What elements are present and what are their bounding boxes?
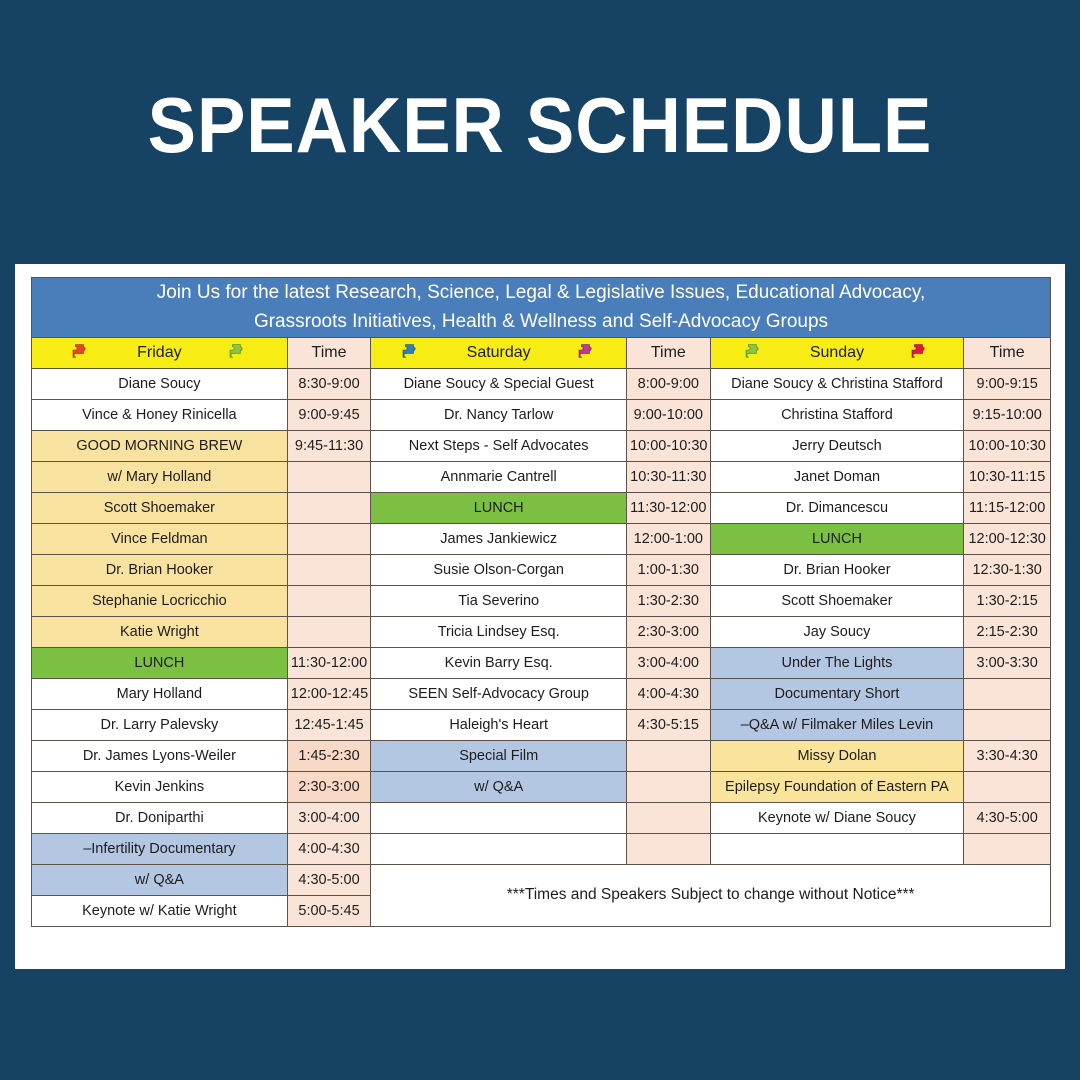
cell-time-saturday: 11:30-12:00 [627, 492, 711, 523]
table-header-row: Friday Time [32, 337, 1051, 368]
cell-time-friday: 12:00-12:45 [287, 678, 371, 709]
cell-time-sunday [964, 833, 1051, 864]
cell-sunday: Dr. Dimancescu [710, 492, 964, 523]
cell-time-saturday: 3:00-4:00 [627, 647, 711, 678]
column-header-saturday: Saturday [371, 337, 627, 368]
table-row: Vince FeldmanJames Jankiewicz12:00-1:00L… [32, 523, 1051, 554]
column-header-time-friday: Time [287, 337, 371, 368]
schedule-card-inner: Join Us for the latest Research, Science… [31, 277, 1051, 956]
table-row: LUNCH11:30-12:00Kevin Barry Esq.3:00-4:0… [32, 647, 1051, 678]
cell-sunday: Missy Dolan [710, 740, 964, 771]
cell-time-sunday: 12:30-1:30 [964, 554, 1051, 585]
cell-friday: Kevin Jenkins [32, 771, 288, 802]
cell-time-friday: 12:45-1:45 [287, 709, 371, 740]
cell-friday: Diane Soucy [32, 368, 288, 399]
cell-sunday: Scott Shoemaker [710, 585, 964, 616]
cell-time-saturday [627, 740, 711, 771]
cell-time-sunday: 9:00-9:15 [964, 368, 1051, 399]
cell-sunday: Documentary Short [710, 678, 964, 709]
table-row: Diane Soucy8:30-9:00Diane Soucy & Specia… [32, 368, 1051, 399]
cell-saturday: Tia Severino [371, 585, 627, 616]
cell-time-sunday: 12:00-12:30 [964, 523, 1051, 554]
cell-time-friday: 11:30-12:00 [287, 647, 371, 678]
column-header-friday-label: Friday [137, 344, 181, 362]
cell-friday: Dr. Doniparthi [32, 802, 288, 833]
cell-sunday: Janet Doman [710, 461, 964, 492]
cell-saturday: Annmarie Cantrell [371, 461, 627, 492]
cell-sunday: Epilepsy Foundation of Eastern PA [710, 771, 964, 802]
intro-banner: Join Us for the latest Research, Science… [32, 278, 1051, 338]
cell-time-sunday [964, 771, 1051, 802]
page-title: SPEAKER SCHEDULE [38, 86, 1042, 164]
intro-banner-row: Join Us for the latest Research, Science… [32, 278, 1051, 338]
cell-time-sunday: 10:00-10:30 [964, 430, 1051, 461]
schedule-card: Join Us for the latest Research, Science… [15, 264, 1065, 969]
cell-time-friday: 4:00-4:30 [287, 833, 371, 864]
cell-friday-qa: w/ Q&A [32, 864, 288, 895]
column-header-sunday-label: Sunday [810, 344, 864, 362]
cell-time-sunday: 4:30-5:00 [964, 802, 1051, 833]
table-row: Scott ShoemakerLUNCH11:30-12:00Dr. Diman… [32, 492, 1051, 523]
cell-sunday: Jay Soucy [710, 616, 964, 647]
cell-saturday: SEEN Self-Advocacy Group [371, 678, 627, 709]
cell-time-sunday: 1:30-2:15 [964, 585, 1051, 616]
cell-sunday: –Q&A w/ Filmaker Miles Levin [710, 709, 964, 740]
cell-time-friday-keynote: 5:00-5:45 [287, 895, 371, 926]
cell-time-saturday: 8:00-9:00 [627, 368, 711, 399]
table-row: Dr. Larry Palevsky12:45-1:45Haleigh's He… [32, 709, 1051, 740]
footer-note: ***Times and Speakers Subject to change … [371, 864, 1051, 926]
cell-time-sunday [964, 678, 1051, 709]
cell-time-friday [287, 492, 371, 523]
cell-time-saturday: 2:30-3:00 [627, 616, 711, 647]
table-row: Dr. Doniparthi3:00-4:00Keynote w/ Diane … [32, 802, 1051, 833]
cell-time-sunday: 3:00-3:30 [964, 647, 1051, 678]
cell-time-sunday: 9:15-10:00 [964, 399, 1051, 430]
cell-friday: LUNCH [32, 647, 288, 678]
poster-root: SPEAKER SCHEDULE [0, 0, 1080, 1080]
column-header-saturday-label: Saturday [467, 344, 531, 362]
table-row: Mary Holland12:00-12:45SEEN Self-Advocac… [32, 678, 1051, 709]
cell-time-friday [287, 554, 371, 585]
cell-friday: –Infertility Documentary [32, 833, 288, 864]
cell-friday: Mary Holland [32, 678, 288, 709]
cell-saturday: Kevin Barry Esq. [371, 647, 627, 678]
table-row: Stephanie LocricchioTia Severino1:30-2:3… [32, 585, 1051, 616]
cell-saturday: James Jankiewicz [371, 523, 627, 554]
cell-friday: Dr. James Lyons-Weiler [32, 740, 288, 771]
cell-friday: GOOD MORNING BREW [32, 430, 288, 461]
cell-saturday [371, 802, 627, 833]
table-row: Dr. Brian HookerSusie Olson-Corgan1:00-1… [32, 554, 1051, 585]
cell-sunday: Christina Stafford [710, 399, 964, 430]
cell-friday: Vince & Honey Rinicella [32, 399, 288, 430]
cell-time-saturday: 4:00-4:30 [627, 678, 711, 709]
cell-saturday [371, 833, 627, 864]
cell-sunday: Keynote w/ Diane Soucy [710, 802, 964, 833]
cell-saturday: Susie Olson-Corgan [371, 554, 627, 585]
cell-time-saturday: 12:00-1:00 [627, 523, 711, 554]
cell-friday-keynote: Keynote w/ Katie Wright [32, 895, 288, 926]
cell-time-saturday: 1:00-1:30 [627, 554, 711, 585]
cell-saturday: Next Steps - Self Advocates [371, 430, 627, 461]
cell-sunday [710, 833, 964, 864]
cell-time-sunday: 3:30-4:30 [964, 740, 1051, 771]
cell-time-friday [287, 523, 371, 554]
cell-sunday: Diane Soucy & Christina Stafford [710, 368, 964, 399]
cell-time-friday: 9:45-11:30 [287, 430, 371, 461]
cell-sunday: Dr. Brian Hooker [710, 554, 964, 585]
intro-banner-line1: Join Us for the latest Research, Science… [35, 278, 1047, 307]
puzzle-piece-icon-green-sunday [744, 343, 764, 362]
cell-sunday: Under The Lights [710, 647, 964, 678]
puzzle-piece-icon-red [71, 343, 91, 362]
cell-time-sunday [964, 709, 1051, 740]
cell-friday: Dr. Brian Hooker [32, 554, 288, 585]
table-row: w/ Q&A 4:30-5:00 ***Times and Speakers S… [32, 864, 1051, 895]
cell-time-saturday: 1:30-2:30 [627, 585, 711, 616]
cell-friday: Dr. Larry Palevsky [32, 709, 288, 740]
cell-time-saturday: 4:30-5:15 [627, 709, 711, 740]
table-row: Kevin Jenkins2:30-3:00w/ Q&AEpilepsy Fou… [32, 771, 1051, 802]
cell-saturday: Dr. Nancy Tarlow [371, 399, 627, 430]
cell-time-saturday: 9:00-10:00 [627, 399, 711, 430]
cell-time-friday: 8:30-9:00 [287, 368, 371, 399]
cell-time-friday [287, 616, 371, 647]
cell-saturday: Diane Soucy & Special Guest [371, 368, 627, 399]
table-row: Vince & Honey Rinicella9:00-9:45Dr. Nanc… [32, 399, 1051, 430]
table-row: Katie WrightTricia Lindsey Esq.2:30-3:00… [32, 616, 1051, 647]
cell-friday: Scott Shoemaker [32, 492, 288, 523]
cell-time-friday-qa: 4:30-5:00 [287, 864, 371, 895]
cell-time-friday [287, 461, 371, 492]
cell-time-sunday: 10:30-11:15 [964, 461, 1051, 492]
table-row: Dr. James Lyons-Weiler1:45-2:30Special F… [32, 740, 1051, 771]
cell-time-saturday [627, 802, 711, 833]
cell-time-saturday: 10:00-10:30 [627, 430, 711, 461]
column-header-sunday: Sunday [710, 337, 964, 368]
cell-time-saturday [627, 833, 711, 864]
puzzle-piece-icon-green [228, 343, 248, 362]
cell-saturday: Tricia Lindsey Esq. [371, 616, 627, 647]
cell-sunday: Jerry Deutsch [710, 430, 964, 461]
cell-time-saturday [627, 771, 711, 802]
column-header-time-saturday: Time [627, 337, 711, 368]
cell-sunday: LUNCH [710, 523, 964, 554]
speaker-schedule-table: Join Us for the latest Research, Science… [31, 277, 1051, 927]
cell-friday: Stephanie Locricchio [32, 585, 288, 616]
cell-time-sunday: 11:15-12:00 [964, 492, 1051, 523]
cell-time-saturday: 10:30-11:30 [627, 461, 711, 492]
cell-friday: Vince Feldman [32, 523, 288, 554]
column-header-time-sunday: Time [964, 337, 1051, 368]
cell-friday: Katie Wright [32, 616, 288, 647]
cell-saturday: LUNCH [371, 492, 627, 523]
cell-time-friday: 9:00-9:45 [287, 399, 371, 430]
cell-time-friday: 2:30-3:00 [287, 771, 371, 802]
cell-time-friday: 3:00-4:00 [287, 802, 371, 833]
cell-time-sunday: 2:15-2:30 [964, 616, 1051, 647]
cell-saturday: Special Film [371, 740, 627, 771]
cell-saturday: Haleigh's Heart [371, 709, 627, 740]
intro-banner-line2: Grassroots Initiatives, Health & Wellnes… [35, 307, 1047, 336]
poster-title-bar: SPEAKER SCHEDULE [0, 86, 1080, 164]
cell-friday: w/ Mary Holland [32, 461, 288, 492]
cell-time-friday: 1:45-2:30 [287, 740, 371, 771]
table-row: –Infertility Documentary4:00-4:30 [32, 833, 1051, 864]
puzzle-piece-icon-purple [577, 343, 597, 362]
table-row: w/ Mary HollandAnnmarie Cantrell10:30-11… [32, 461, 1051, 492]
cell-saturday: w/ Q&A [371, 771, 627, 802]
table-row: GOOD MORNING BREW9:45-11:30Next Steps - … [32, 430, 1051, 461]
puzzle-piece-icon-red-sunday [910, 343, 930, 362]
column-header-friday: Friday [32, 337, 288, 368]
cell-time-friday [287, 585, 371, 616]
puzzle-piece-icon-blue [401, 343, 421, 362]
